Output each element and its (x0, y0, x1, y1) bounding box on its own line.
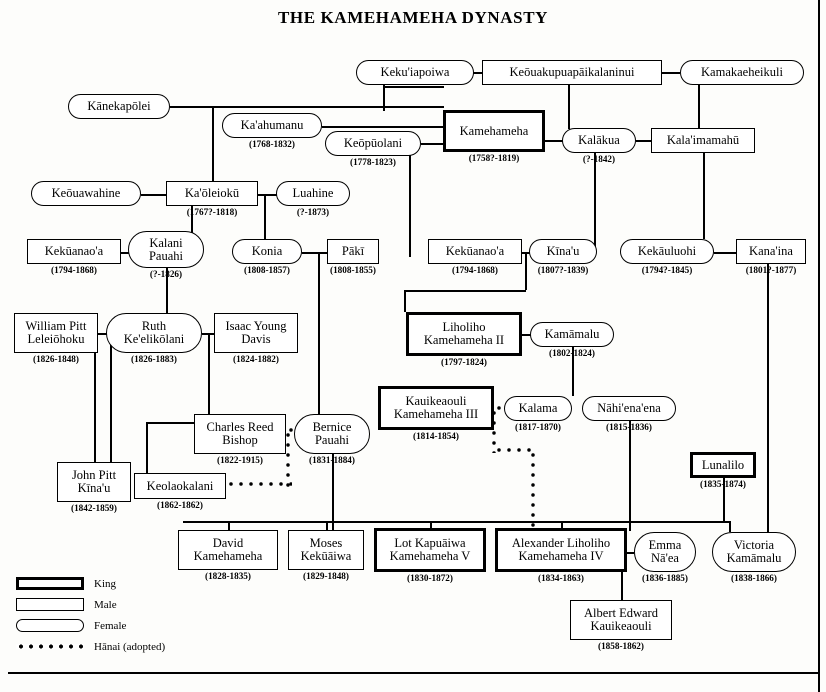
legend: KingMaleFemaleHānai (adopted) (16, 574, 165, 658)
connector-line (212, 106, 214, 193)
person-node-kamakaeheikuli[interactable]: Kamakaeheikuli (680, 60, 804, 85)
legend-row-king: King (16, 574, 165, 593)
connector-line (258, 194, 277, 196)
person-dates: (1858-1862) (540, 641, 702, 651)
person-node-kanekapolei[interactable]: Kānekapōlei (68, 94, 170, 119)
person-name: Kamakaeheikuli (697, 66, 787, 79)
connector-line (421, 143, 444, 145)
person-name: John PittKīna'u (68, 469, 120, 495)
person-dates: (1835-1874) (660, 479, 786, 489)
person-node-kaoleioku[interactable]: Ka'ōleiokū (166, 181, 258, 206)
legend-label: Male (94, 599, 117, 611)
connector-line (662, 72, 680, 74)
person-node-isaacdavis[interactable]: Isaac YoungDavis (214, 313, 298, 353)
person-node-kalanipauahi[interactable]: KalaniPauahi (128, 231, 204, 268)
person-node-albertedward[interactable]: Albert EdwardKauikeaouli (570, 600, 672, 640)
person-name: Kamehameha (456, 125, 533, 138)
person-name: Isaac YoungDavis (221, 320, 290, 346)
person-dates: (1778-1823) (295, 157, 451, 167)
person-name: Kīna'u (543, 245, 584, 258)
person-name: Kana'ina (745, 245, 797, 258)
bottom-border-line (8, 672, 818, 674)
connector-line (714, 252, 736, 254)
person-name: RuthKe'elikōlani (120, 320, 189, 346)
person-name: VictoriaKamāmalu (723, 539, 786, 565)
connector-line (110, 333, 112, 464)
person-name: Ka'ōleiokū (181, 187, 243, 200)
connector-line (636, 140, 652, 142)
person-dates: (1801?-1877) (706, 265, 826, 275)
person-name: Kānekapōlei (83, 100, 154, 113)
person-dates: (1815-1836) (552, 422, 706, 432)
person-name: Kalama (515, 402, 562, 415)
person-name: Kekāuluohi (634, 245, 700, 258)
connector-line (430, 521, 432, 528)
legend-row-hanai: Hānai (adopted) (16, 637, 165, 656)
connector-line (404, 290, 406, 312)
person-dates: (1808-1855) (297, 265, 409, 275)
person-dates: (1797-1824) (376, 357, 552, 367)
legend-swatch-hanai-icon (16, 644, 84, 649)
hanai-adoption-line (226, 482, 292, 486)
person-name: MosesKekūāiwa (297, 537, 356, 563)
connector-line (228, 521, 230, 530)
connector-line (404, 290, 526, 292)
hanai-adoption-line (494, 448, 536, 452)
person-node-moseskek[interactable]: MosesKekūāiwa (288, 530, 364, 570)
hanai-adoption-line (531, 450, 535, 528)
legend-swatch-female-icon (16, 619, 84, 632)
connector-line (627, 552, 634, 554)
legend-swatch-male-icon (16, 598, 84, 611)
connector-line (322, 126, 444, 128)
person-dates: (1824-1882) (184, 354, 328, 364)
person-node-lotkam5[interactable]: Lot KapuāiwaKamehameha V (374, 528, 486, 572)
person-node-williampitt[interactable]: William PittLeleiōhoku (14, 313, 98, 353)
person-node-kekauluohi[interactable]: Kekāuluohi (620, 239, 714, 264)
connector-line (729, 521, 731, 532)
person-name: Kekūanao'a (41, 245, 107, 258)
person-name: William PittLeleiōhoku (22, 320, 91, 346)
connector-line (326, 521, 328, 530)
person-node-victoriakam[interactable]: VictoriaKamāmalu (712, 532, 796, 572)
person-node-paki[interactable]: Pākī (327, 239, 379, 264)
person-node-kaahumanu[interactable]: Ka'ahumanu (222, 113, 322, 138)
person-node-charlesbishop[interactable]: Charles ReedBishop (194, 414, 286, 454)
person-name: KalaniPauahi (145, 237, 187, 263)
connector-line (318, 252, 320, 416)
person-name: EmmaNā'ea (645, 539, 686, 565)
person-node-kanaina[interactable]: Kana'ina (736, 239, 806, 264)
person-node-kalakua[interactable]: Kalākua (562, 128, 636, 153)
person-node-kalaimamahu[interactable]: Kala'imamahū (651, 128, 755, 153)
person-dates: (1862-1862) (104, 500, 256, 510)
legend-label: Hānai (adopted) (94, 641, 165, 653)
legend-row-male: Male (16, 595, 165, 614)
page-title: THE KAMEHAMEHA DYNASTY (0, 8, 826, 28)
person-dates: (?-1873) (246, 207, 380, 217)
person-name: Ka'ahumanu (237, 119, 308, 132)
person-name: Keōuawahine (48, 187, 125, 200)
person-dates: (1838-1866) (682, 573, 826, 583)
legend-row-female: Female (16, 616, 165, 635)
connector-line (302, 252, 328, 254)
person-node-kamehameha[interactable]: Kamehameha (443, 110, 545, 152)
person-node-luahine[interactable]: Luahine (276, 181, 350, 206)
person-node-keouawahine[interactable]: Keōuawahine (31, 181, 141, 206)
person-name: Kalākua (574, 134, 624, 147)
legend-label: Female (94, 620, 126, 632)
person-name: Nāhi'ena'ena (593, 402, 665, 415)
person-node-johnpitt[interactable]: John PittKīna'u (57, 462, 131, 502)
connector-line (208, 333, 210, 422)
person-name: KauikeaouliKamehameha III (390, 395, 482, 421)
legend-swatch-king-icon (16, 577, 84, 590)
connector-line (94, 353, 96, 462)
person-name: Lunalilo (698, 459, 748, 472)
person-node-ruth[interactable]: RuthKe'elikōlani (106, 313, 202, 353)
person-node-kamamalu[interactable]: Kamāmalu (530, 322, 614, 347)
connector-line (141, 194, 167, 196)
person-name: Albert EdwardKauikeaouli (580, 607, 662, 633)
connector-line (561, 521, 563, 528)
person-name: Keolaokalani (143, 480, 218, 493)
person-node-kekuanaoa1[interactable]: Kekūanao'a (27, 239, 121, 264)
person-name: Kekūanao'a (442, 245, 508, 258)
person-name: Keōuakupuapāikalaninui (506, 66, 639, 79)
person-node-alexliholiho4[interactable]: Alexander LiholihoKamehameha IV (495, 528, 627, 572)
person-node-kalama[interactable]: Kalama (504, 396, 572, 421)
person-name: Pākī (338, 245, 368, 258)
connector-line (183, 521, 729, 523)
person-node-konia[interactable]: Konia (232, 239, 302, 264)
person-name: Charles ReedBishop (203, 421, 278, 447)
connector-line (383, 86, 444, 88)
person-name: Konia (248, 245, 287, 258)
person-name: DavidKamehameha (190, 537, 267, 563)
person-node-lunalilo[interactable]: Lunalilo (690, 452, 756, 478)
person-node-emmanaea[interactable]: EmmaNā'ea (634, 532, 696, 572)
connector-line (703, 140, 705, 239)
connector-line (545, 140, 563, 142)
person-name: Alexander LiholihoKamehameha IV (508, 537, 614, 563)
person-name: Keku'iapoiwa (377, 66, 454, 79)
person-node-kinau[interactable]: Kīna'u (529, 239, 597, 264)
person-name: Kamāmalu (541, 328, 604, 341)
genealogy-chart: THE KAMEHAMEHA DYNASTY Keku'iapoiwaKeōua… (0, 0, 826, 692)
person-name: LiholihoKamehameha II (420, 321, 508, 347)
person-name: Kala'imamahū (663, 134, 743, 147)
person-node-keouakupuapaikalaninui[interactable]: Keōuakupuapāikalaninui (482, 60, 662, 85)
person-node-keolaokalani[interactable]: Keolaokalani (134, 473, 226, 499)
person-node-kekuanaoa2[interactable]: Kekūanao'a (428, 239, 522, 264)
right-border-line (818, 0, 820, 692)
person-node-kekuiapoiwa[interactable]: Keku'iapoiwa (356, 60, 474, 85)
person-name: Lot KapuāiwaKamehameha V (386, 537, 475, 563)
person-dates: (1814-1854) (348, 431, 524, 441)
connector-line (621, 592, 623, 600)
legend-label: King (94, 578, 116, 590)
person-dates: (1831-1884) (264, 455, 400, 465)
person-node-nahienaena[interactable]: Nāhi'ena'ena (582, 396, 676, 421)
person-dates: (1768-1832) (192, 139, 352, 149)
person-node-davidkam[interactable]: DavidKamehameha (178, 530, 278, 570)
person-dates: (?-1842) (532, 154, 666, 164)
connector-line (146, 422, 148, 474)
person-dates: (1802-1824) (500, 348, 644, 358)
person-name: Luahine (289, 187, 338, 200)
